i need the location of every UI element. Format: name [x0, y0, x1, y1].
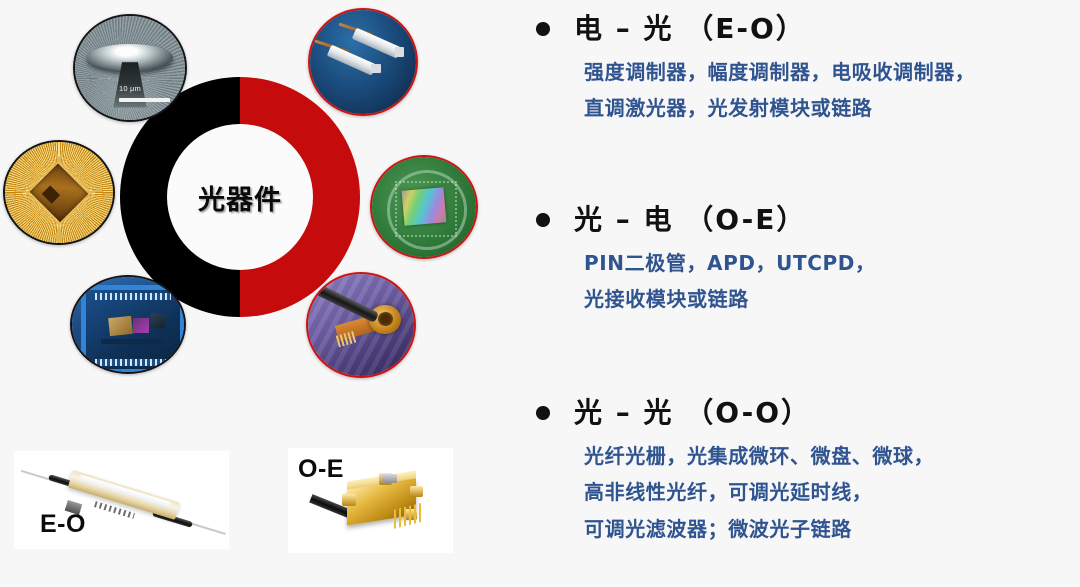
- sem-microtoroid-photo: 10 μm: [75, 16, 185, 120]
- bullet-heading-row-eo: 电 – 光 （E-O）: [516, 14, 1080, 45]
- scale-bar-line: [119, 98, 170, 102]
- detail-line: 高非线性光纤，可调光延时线，: [584, 474, 1080, 510]
- label-oe: O-E: [298, 455, 344, 484]
- iridescent-die: [402, 187, 446, 225]
- slide-canvas: 10 μm: [0, 0, 1080, 587]
- oe-top-stub: [382, 474, 397, 482]
- satellite-microtoroid: 10 μm: [73, 14, 187, 122]
- satellite-gold-chip: [3, 140, 115, 245]
- bullet-group-oe: 光 – 电 （O-E） PIN二极管，APD，UTCPD， 光接收模块或链路: [516, 205, 1080, 318]
- bullet-heading-row-oo: 光 – 光 （O-O）: [516, 398, 1080, 429]
- to-can-photodiode-photo: [308, 274, 414, 376]
- detail-line: 光接收模块或链路: [584, 281, 1080, 317]
- bullet-detail-oo: 光纤光栅，光集成微环、微盘、微球， 高非线性光纤，可调光延时线， 可调光滤波器；…: [584, 438, 1080, 547]
- oe-mount-post-1: [342, 494, 355, 506]
- satellite-fiber-cables: [308, 8, 418, 116]
- bullet-dot-icon: [536, 406, 550, 420]
- oe-mount-post-2: [410, 486, 423, 498]
- bullet-dot-icon: [536, 22, 550, 36]
- scale-bar-label: 10 μm: [119, 84, 174, 93]
- bullet-list: 电 – 光 （E-O） 强度调制器，幅度调制器，电吸收调制器， 直调激光器，光发…: [516, 0, 1080, 587]
- connector-tip-2: [395, 47, 405, 56]
- bond-pads-top: [95, 293, 170, 300]
- donut-center-label: 光器件: [198, 178, 282, 217]
- satellite-green-pcb: [370, 155, 478, 259]
- fiber-transceiver-cable-photo: [310, 10, 416, 114]
- inner-bus-bar: [101, 339, 163, 344]
- satellite-blue-package: [70, 275, 186, 374]
- blue-die-package-photo: [72, 277, 184, 372]
- donut-hole: 光器件: [167, 124, 313, 270]
- transceiver-housing-1: [327, 44, 377, 75]
- bullet-detail-eo: 强度调制器，幅度调制器，电吸收调制器， 直调激光器，光发射模块或链路: [584, 54, 1080, 127]
- detail-line: 光纤光栅，光集成微环、微盘、微球，: [584, 438, 1080, 474]
- package-frame: [81, 285, 185, 374]
- bullet-detail-oe: PIN二极管，APD，UTCPD， 光接收模块或链路: [584, 245, 1080, 318]
- label-eo: E-O: [40, 510, 86, 539]
- bullet-heading-oo: 光 – 光 （O-O）: [574, 398, 811, 429]
- bullet-heading-oe: 光 – 电 （O-E）: [574, 205, 806, 236]
- gold-wirebond-chip-photo: [5, 142, 113, 243]
- detail-line: PIN二极管，APD，UTCPD，: [584, 245, 1080, 281]
- green-pcb-chip-photo: [372, 157, 476, 257]
- connector-tip-1: [371, 64, 381, 73]
- bullet-heading-row-oe: 光 – 电 （O-E）: [516, 205, 1080, 236]
- bullet-heading-eo: 电 – 光 （E-O）: [574, 14, 806, 45]
- satellite-photodiode: [306, 272, 416, 378]
- detail-line: 直调激光器，光发射模块或链路: [584, 90, 1080, 126]
- bullet-dot-icon: [536, 213, 550, 227]
- detail-line: 可调光滤波器；微波光子链路: [584, 511, 1080, 547]
- tweezer: [315, 285, 379, 324]
- bullet-group-oo: 光 – 光 （O-O） 光纤光栅，光集成微环、微盘、微球， 高非线性光纤，可调光…: [516, 398, 1080, 547]
- detail-line: 强度调制器，幅度调制器，电吸收调制器，: [584, 54, 1080, 90]
- bullet-group-eo: 电 – 光 （E-O） 强度调制器，幅度调制器，电吸收调制器， 直调激光器，光发…: [516, 14, 1080, 127]
- chip-die: [29, 163, 88, 222]
- inner-chip-purple: [133, 318, 149, 333]
- inner-chip-dark: [149, 313, 166, 329]
- inner-chip-gold: [108, 316, 132, 336]
- optical-device-diagram: 10 μm: [0, 0, 500, 420]
- bond-pads-bottom: [95, 359, 170, 366]
